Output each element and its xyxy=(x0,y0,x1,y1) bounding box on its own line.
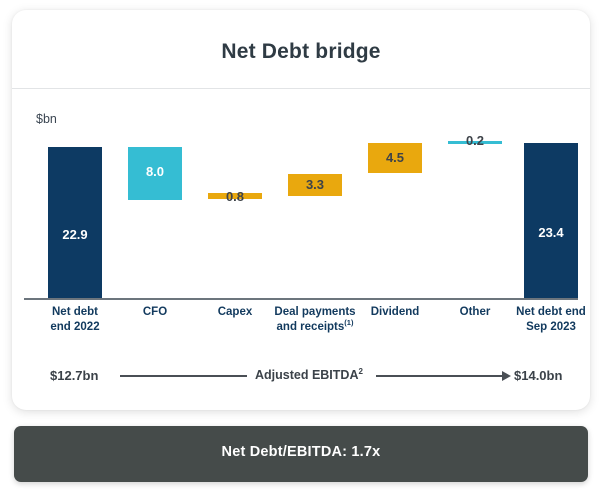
category-label-6: Net debt endSep 2023 xyxy=(502,305,590,335)
ebitda-end-value: $14.0bn xyxy=(514,368,562,383)
unit-label: $bn xyxy=(36,112,57,126)
bar-increase-cyan-1: 8.0 xyxy=(128,147,182,200)
connector-line-left xyxy=(120,375,247,377)
bar-value-label: 0.2 xyxy=(448,133,502,148)
ebitda-caption-footnote: 2 xyxy=(358,367,362,376)
bar-total-6: 23.4 xyxy=(524,143,578,298)
arrow-head-icon xyxy=(502,371,511,381)
bar-value-label: 8.0 xyxy=(128,164,182,179)
ebitda-annotation-row: $12.7bn Adjusted EBITDA2 $14.0bn xyxy=(24,362,578,392)
ebitda-caption-text: Adjusted EBITDA xyxy=(255,368,358,382)
x-axis-line xyxy=(24,298,578,300)
page-title: Net Debt bridge xyxy=(12,40,590,64)
ebitda-start-value: $12.7bn xyxy=(50,368,98,383)
bar-total-0: 22.9 xyxy=(48,147,102,298)
bar-value-label: 23.4 xyxy=(524,225,578,240)
footer-banner: Net Debt/EBITDA: 1.7x xyxy=(14,426,588,482)
net-debt-ebitda-ratio: Net Debt/EBITDA: 1.7x xyxy=(14,444,588,460)
bar-value-label: 4.5 xyxy=(368,150,422,165)
bar-increase-orange-2: 0.8 xyxy=(208,193,262,199)
bar-increase-orange-3: 3.3 xyxy=(288,174,342,196)
card-header: Net Debt bridge xyxy=(12,10,590,89)
bar-value-label: 3.3 xyxy=(288,177,342,192)
bar-value-label: 22.9 xyxy=(48,227,102,242)
chart-card: Net Debt bridge $bn 22.98.00.83.34.50.22… xyxy=(12,10,590,410)
connector-line-right xyxy=(376,375,506,377)
waterfall-chart: $bn 22.98.00.83.34.50.223.4 Net debtend … xyxy=(12,90,590,410)
ebitda-caption: Adjusted EBITDA2 xyxy=(255,368,363,382)
bar-increase-cyan-5: 0.2 xyxy=(448,141,502,144)
bar-increase-orange-4: 4.5 xyxy=(368,143,422,173)
bar-value-label: 0.8 xyxy=(208,189,262,204)
